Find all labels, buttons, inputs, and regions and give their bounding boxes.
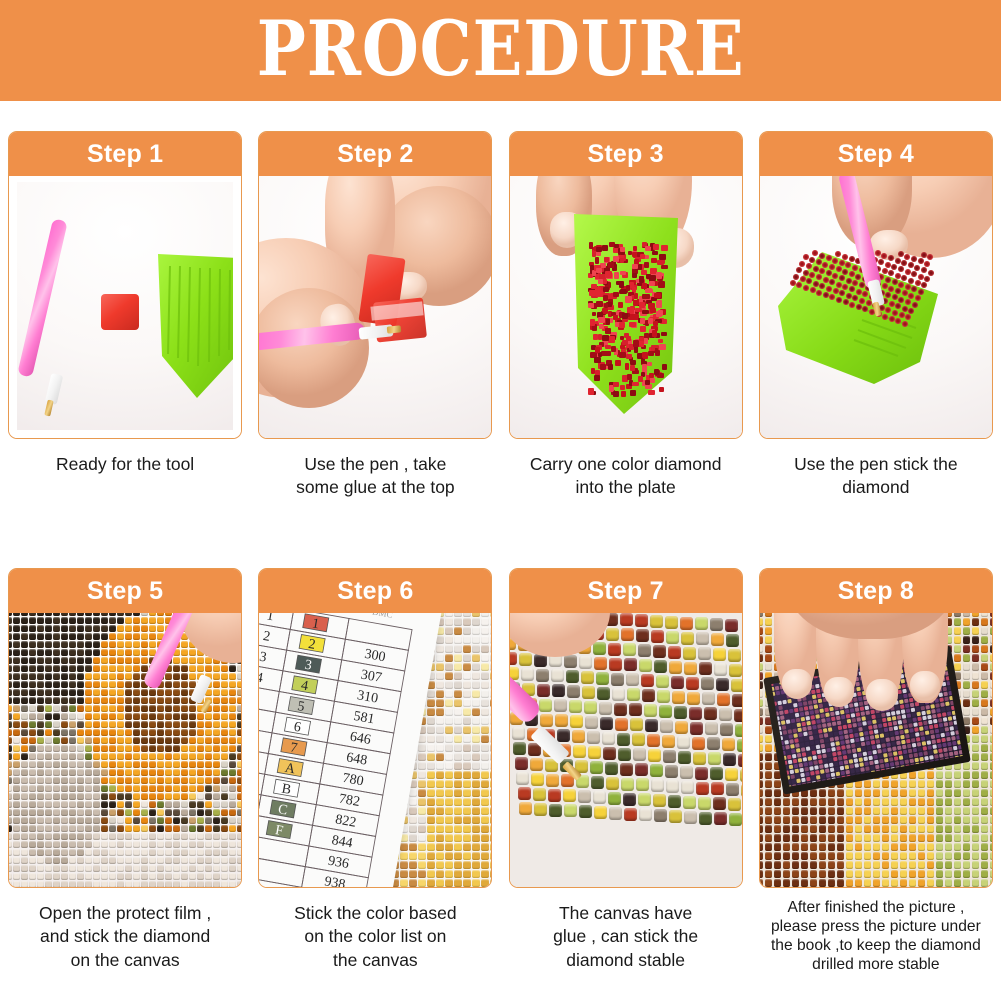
step-3-card[interactable]: Step 3 xyxy=(509,131,743,439)
step-8-header-label: Step 8 xyxy=(838,577,914,606)
svg-text:307: 307 xyxy=(360,668,383,686)
step-4-photo xyxy=(760,176,992,438)
step-7-photo xyxy=(510,613,742,887)
steps-row-bottom: Step 5 Open the protect film , and stick… xyxy=(0,568,1001,1001)
step-3-header-label: Step 3 xyxy=(588,140,664,169)
step-card-8: Step 8 xyxy=(751,568,1001,1001)
svg-text:936: 936 xyxy=(327,854,350,872)
page-banner: PROCEDURE xyxy=(0,0,1001,101)
step-1-caption: Ready for the tool xyxy=(3,453,247,476)
step-2-caption: Use the pen , take some glue at the top xyxy=(253,453,497,500)
svg-text:310: 310 xyxy=(356,688,379,706)
svg-text:648: 648 xyxy=(345,750,368,768)
svg-text:782: 782 xyxy=(338,792,361,810)
step-2-header-label: Step 2 xyxy=(337,140,413,169)
green-tray-icon xyxy=(152,250,233,402)
step-5-card[interactable]: Step 5 xyxy=(8,568,242,888)
svg-text:822: 822 xyxy=(334,812,357,830)
step-card-2: Step 2 xyxy=(250,131,500,531)
step-6-card[interactable]: Step 6 No.SymbolDMC112230033307443105558… xyxy=(258,568,492,888)
step-card-4: Step 4 xyxy=(751,131,1001,531)
svg-text:5: 5 xyxy=(259,691,260,707)
red-diamonds-pile xyxy=(510,176,742,438)
step-5-header-label: Step 5 xyxy=(87,577,163,606)
svg-text:3: 3 xyxy=(259,650,268,666)
steps-row-top: Step 1 xyxy=(0,131,1001,531)
svg-text:1: 1 xyxy=(266,613,275,624)
step-card-1: Step 1 xyxy=(0,131,250,531)
step-7-card[interactable]: Step 7 xyxy=(509,568,743,888)
svg-text:581: 581 xyxy=(353,709,376,727)
svg-text:4: 4 xyxy=(259,670,264,686)
step-card-7: Step 7 The canvas have glue , can stick … xyxy=(501,568,751,1001)
step-4-header-label: Step 4 xyxy=(838,140,914,169)
step-7-header-label: Step 7 xyxy=(588,577,664,606)
step-1-photo xyxy=(9,176,241,438)
step-8-header: Step 8 xyxy=(760,569,992,613)
step-6-header: Step 6 xyxy=(259,569,491,613)
step-3-caption: Carry one color diamond into the plate xyxy=(504,453,748,500)
step-card-6: Step 6 No.SymbolDMC112230033307443105558… xyxy=(250,568,500,1001)
step-8-caption: After finished the picture , please pres… xyxy=(751,898,1001,974)
svg-text:2: 2 xyxy=(262,629,271,645)
step-4-header: Step 4 xyxy=(760,132,992,176)
step-1-header: Step 1 xyxy=(9,132,241,176)
step-5-header: Step 5 xyxy=(9,569,241,613)
svg-text:938: 938 xyxy=(324,874,347,887)
step-card-5: Step 5 Open the protect film , and stick… xyxy=(0,568,250,1001)
step-6-photo: No.SymbolDMC1122300333074431055581666467… xyxy=(259,613,491,887)
red-glue-square-icon xyxy=(101,294,139,330)
step-4-caption: Use the pen stick the diamond xyxy=(754,453,998,500)
step-7-header: Step 7 xyxy=(510,569,742,613)
step-2-header: Step 2 xyxy=(259,132,491,176)
svg-text:DMC: DMC xyxy=(372,613,394,620)
step-7-caption: The canvas have glue , can stick the dia… xyxy=(504,902,748,972)
step-6-caption: Stick the color based on the color list … xyxy=(253,902,497,972)
step-1-header-label: Step 1 xyxy=(87,140,163,169)
svg-text:646: 646 xyxy=(349,730,372,748)
step-1-card[interactable]: Step 1 xyxy=(8,131,242,439)
step-8-photo xyxy=(760,613,992,887)
step-2-card[interactable]: Step 2 xyxy=(258,131,492,439)
svg-text:300: 300 xyxy=(364,647,387,665)
step-6-header-label: Step 6 xyxy=(337,577,413,606)
step-8-card[interactable]: Step 8 xyxy=(759,568,993,888)
step-5-caption: Open the protect film , and stick the di… xyxy=(3,902,247,972)
page-title: PROCEDURE xyxy=(257,11,745,91)
step-card-3: Step 3 xyxy=(501,131,751,531)
step-5-photo xyxy=(9,613,241,887)
step-2-photo xyxy=(259,176,491,438)
step-4-card[interactable]: Step 4 xyxy=(759,131,993,439)
step-3-photo xyxy=(510,176,742,438)
svg-text:780: 780 xyxy=(342,771,365,789)
step-3-header: Step 3 xyxy=(510,132,742,176)
procedure-infographic: PROCEDURE Step 1 xyxy=(0,0,1001,1001)
svg-text:844: 844 xyxy=(331,833,354,851)
